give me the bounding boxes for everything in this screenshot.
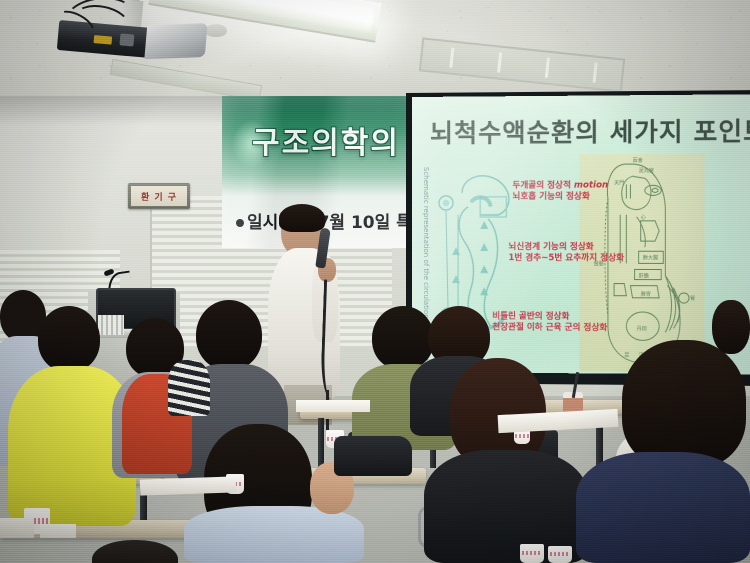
torso: [184, 506, 364, 563]
tissue-box: [0, 518, 34, 538]
microphone-cable: [320, 280, 353, 401]
seminar-room-photo: 환 기 구 구조의학의 새 일시 1년 7월 10일 특 뇌척수액순환의 세가지…: [0, 0, 750, 563]
presenter-hair: [279, 204, 325, 232]
svg-text:肺大腸: 肺大腸: [643, 254, 658, 261]
slide-annotation-1: 두개골의 정상적 motion 뇌호흡 기능의 정상화: [512, 180, 608, 202]
black-bag: [334, 436, 412, 476]
paper-cup: [520, 544, 544, 563]
svg-text:丹田: 丹田: [637, 326, 647, 332]
podium-vent: [98, 315, 124, 335]
wall-sign-label: 환 기 구: [131, 186, 187, 206]
head: [372, 306, 434, 370]
slide-title: 뇌척수액순환의 세가지 포인트: [430, 112, 750, 150]
head: [622, 340, 746, 468]
svg-text:天門: 天門: [614, 180, 624, 186]
paper-cup: [548, 546, 572, 563]
wall-sign: 환 기 구: [128, 183, 190, 209]
slide-annotation-2: 뇌신경계 기능의 정상화 1번 경추~5번 요추까지 정상화: [508, 242, 624, 264]
svg-text:心: 心: [641, 214, 646, 221]
slide-annotation-3: 비틀린 골반의 정상화 천장관절 이하 근육 군의 정상화: [492, 311, 607, 334]
head: [196, 300, 262, 370]
bullet-icon: [236, 219, 244, 227]
small-box: [40, 524, 76, 538]
svg-text:腎: 腎: [690, 295, 695, 302]
svg-text:百會: 百會: [632, 157, 642, 164]
head: [712, 300, 750, 354]
head: [38, 306, 100, 372]
torso-stripes: [168, 360, 210, 416]
svg-text:肝膽: 肝膽: [639, 272, 649, 279]
svg-text:足: 足: [624, 352, 629, 358]
handout-papers: [296, 400, 370, 412]
head: [92, 540, 178, 563]
smoke-detector-icon: [205, 24, 227, 37]
svg-text:泥丸宮: 泥丸宮: [639, 167, 654, 174]
torso: [576, 452, 750, 563]
handout-papers: [140, 476, 236, 495]
svg-text:脾胃: 脾胃: [641, 291, 651, 298]
